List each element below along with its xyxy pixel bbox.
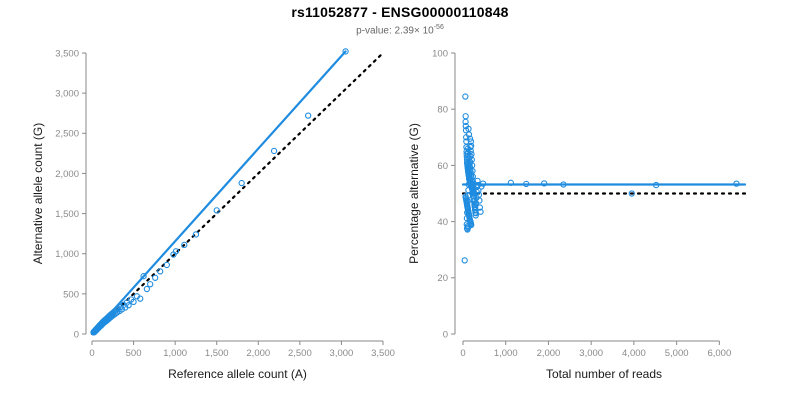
data-point xyxy=(463,94,468,99)
fit-line xyxy=(94,51,346,332)
y-tick-label: 2,500 xyxy=(55,129,79,140)
data-point xyxy=(153,275,158,280)
y-tick-label: 20 xyxy=(437,273,448,284)
x-tick-label: 1,000 xyxy=(494,348,518,359)
y-tick-label: 60 xyxy=(437,161,448,172)
y-axis-label: Percentage alternative (G) xyxy=(407,123,421,264)
x-tick-label: 2,000 xyxy=(246,348,270,359)
data-point xyxy=(462,258,467,263)
figure-root: rs11052877 - ENSG00000110848 p-value: 2.… xyxy=(0,0,800,400)
y-tick-label: 3,500 xyxy=(55,48,79,59)
data-point xyxy=(164,262,169,267)
x-tick-label: 4,000 xyxy=(622,348,646,359)
data-point xyxy=(148,282,153,287)
x-tick-label: 1,000 xyxy=(163,348,187,359)
x-tick-label: 0 xyxy=(89,348,94,359)
x-tick-label: 5,000 xyxy=(665,348,689,359)
x-tick-label: 500 xyxy=(126,348,142,359)
x-tick-label: 0 xyxy=(460,348,465,359)
y-tick-label: 2,000 xyxy=(55,169,79,180)
y-tick-label: 80 xyxy=(437,105,448,116)
x-tick-label: 3,500 xyxy=(371,348,395,359)
x-tick-label: 3,000 xyxy=(579,348,603,359)
data-point xyxy=(306,113,311,118)
scatter-panel-left: 05001,0001,5002,0002,5003,0003,50005001,… xyxy=(0,0,400,400)
scatter-panel-right: 02040608010001,0002,0003,0004,0005,0006,… xyxy=(400,0,800,400)
y-tick-label: 500 xyxy=(63,289,79,300)
data-point xyxy=(463,114,468,119)
x-tick-label: 2,500 xyxy=(288,348,312,359)
x-tick-label: 6,000 xyxy=(707,348,731,359)
x-tick-label: 2,000 xyxy=(537,348,561,359)
y-tick-label: 100 xyxy=(432,48,448,59)
x-tick-label: 1,500 xyxy=(205,348,229,359)
x-tick-label: 3,000 xyxy=(330,348,354,359)
reference-line xyxy=(92,53,383,334)
y-tick-label: 1,000 xyxy=(55,249,79,260)
x-axis-label: Reference allele count (A) xyxy=(168,367,307,381)
data-point xyxy=(239,180,244,185)
x-axis-label: Total number of reads xyxy=(546,367,662,381)
scatter-plot-right-svg: 02040608010001,0002,0003,0004,0005,0006,… xyxy=(400,0,800,400)
y-tick-label: 40 xyxy=(437,217,448,228)
y-tick-label: 1,500 xyxy=(55,209,79,220)
y-tick-label: 0 xyxy=(74,329,79,340)
y-tick-label: 3,000 xyxy=(55,89,79,100)
data-point xyxy=(271,148,276,153)
data-points-group xyxy=(462,94,739,263)
data-point xyxy=(144,286,149,291)
y-axis-label: Alternative allele count (G) xyxy=(31,123,45,264)
scatter-plot-left-svg: 05001,0001,5002,0002,5003,0003,50005001,… xyxy=(0,0,400,400)
y-tick-label: 0 xyxy=(443,329,448,340)
